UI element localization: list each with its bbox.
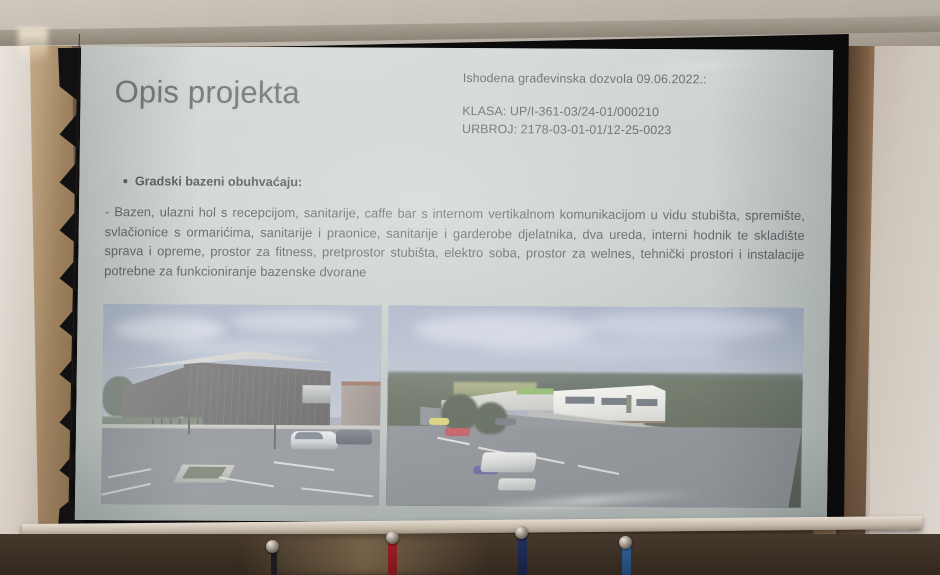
permit-klasa: KLASA: UP/I-361-03/24-01/000210	[462, 103, 812, 123]
render2-window-mullion	[626, 395, 632, 413]
projected-slide-surface: Opis projekta Ishodena građevinska dozvo…	[75, 46, 833, 524]
render1-car-windscreen	[295, 432, 323, 439]
room-photo: Opis projekta Ishodena građevinska dozvo…	[0, 0, 940, 575]
render1-annex	[341, 385, 380, 427]
render2-white-van	[481, 452, 538, 472]
chair-finial-4	[619, 536, 632, 549]
slide-image-row	[101, 304, 804, 508]
render2-green-accent	[516, 388, 553, 394]
chair-ribbon-blue	[622, 545, 631, 575]
render1-dark-car	[335, 429, 371, 444]
chair-ribbon-red	[388, 540, 397, 575]
permit-urbroj: URBROJ: 2178-03-01-01/12-25-0023	[462, 121, 812, 141]
projection-screen: Opis projekta Ishodena građevinska dozvo…	[52, 34, 852, 534]
chair-finial-3	[515, 526, 528, 539]
render2-white-car	[497, 478, 536, 490]
permit-heading: Ishodena građevinska dozvola 09.06.2022.…	[463, 70, 813, 90]
chair-ribbon-navy	[518, 535, 527, 575]
render2-red-car	[445, 428, 470, 436]
slide-body-text: - Bazen, ulazni hol s recepcijom, sanita…	[104, 202, 805, 284]
render2-grey-car	[495, 418, 516, 425]
render2-yellow-car	[429, 418, 450, 425]
render-aerial-complex	[386, 306, 804, 508]
render2-window	[566, 397, 595, 404]
slide: Opis projekta Ishodena građevinska dozvo…	[75, 46, 833, 524]
bullet-dot-icon	[123, 179, 127, 183]
chair-finial-2	[386, 531, 399, 544]
render2-main-road	[386, 426, 802, 508]
render1-lamp-post	[188, 411, 190, 435]
ceiling-light-glow	[18, 28, 48, 64]
bullet-heading-row: Gradski bazeni obuhvaćaju:	[123, 174, 302, 189]
slide-title: Opis projekta	[114, 74, 300, 111]
bullet-heading-text: Gradski bazeni obuhvaćaju:	[135, 174, 302, 189]
permit-info-block: Ishodena građevinska dozvola 09.06.2022.…	[462, 70, 813, 141]
chair-finial-1	[266, 540, 279, 553]
render1-window	[303, 385, 331, 403]
render2-window	[636, 399, 657, 406]
render-exterior-sports-hall	[101, 304, 382, 506]
render1-cloud	[114, 316, 226, 343]
